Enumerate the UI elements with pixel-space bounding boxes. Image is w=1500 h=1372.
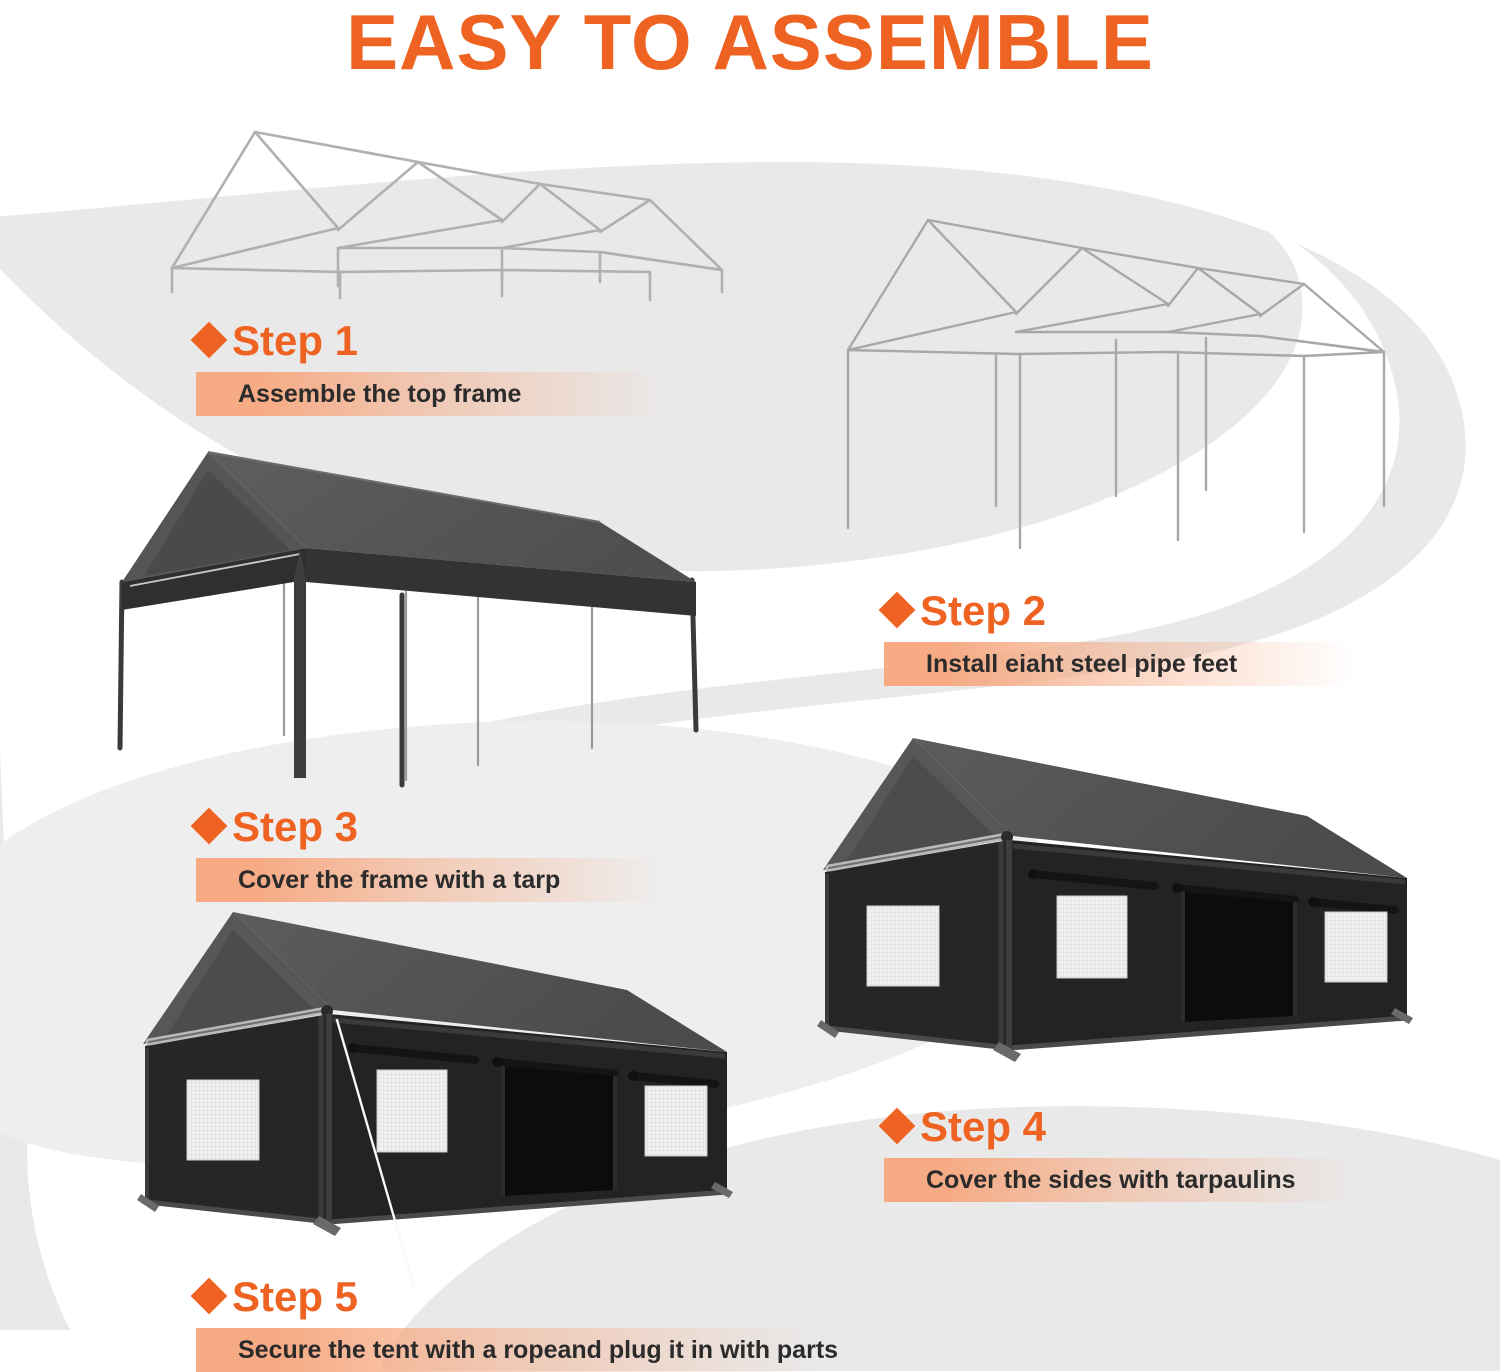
step-3-title: Step 3 bbox=[232, 806, 358, 848]
step-2-header: Step 2 bbox=[884, 586, 1237, 636]
step-3-description-wrap: Cover the frame with a tarp bbox=[196, 858, 560, 902]
illustration-frame-with-eight-legs bbox=[820, 210, 1450, 550]
step-5-header: Step 5 bbox=[196, 1272, 838, 1322]
illustration-tent-with-side-walls bbox=[795, 720, 1455, 1090]
step-block-1: Step 1 Assemble the top frame bbox=[196, 316, 521, 416]
step-3-description: Cover the frame with a tarp bbox=[196, 868, 560, 893]
step-block-2: Step 2 Install eiaht steel pipe feet bbox=[884, 586, 1237, 686]
step-5-description: Secure the tent with a ropeand plug it i… bbox=[196, 1338, 838, 1363]
step-block-4: Step 4 Cover the sides with tarpaulins bbox=[884, 1102, 1296, 1202]
step-4-header: Step 4 bbox=[884, 1102, 1296, 1152]
step-1-header: Step 1 bbox=[196, 316, 521, 366]
diamond-bullet-icon bbox=[191, 1278, 228, 1315]
step-1-description-wrap: Assemble the top frame bbox=[196, 372, 521, 416]
illustration-tent-with-guy-rope bbox=[115, 890, 775, 1290]
illustration-tent-with-roof-tarp bbox=[100, 430, 740, 800]
step-2-description-wrap: Install eiaht steel pipe feet bbox=[884, 642, 1237, 686]
diamond-bullet-icon bbox=[191, 322, 228, 359]
diamond-bullet-icon bbox=[191, 808, 228, 845]
infographic-canvas: EASY TO ASSEMBLE bbox=[0, 0, 1500, 1371]
step-1-description: Assemble the top frame bbox=[196, 382, 521, 407]
step-1-title: Step 1 bbox=[232, 320, 358, 362]
diamond-bullet-icon bbox=[879, 592, 916, 629]
step-5-title: Step 5 bbox=[232, 1276, 358, 1318]
step-block-5: Step 5 Secure the tent with a ropeand pl… bbox=[196, 1272, 838, 1372]
page-title: EASY TO ASSEMBLE bbox=[0, 2, 1500, 84]
illustration-top-frame-skeleton bbox=[150, 120, 760, 320]
step-3-header: Step 3 bbox=[196, 802, 560, 852]
step-4-title: Step 4 bbox=[920, 1106, 1046, 1148]
step-4-description: Cover the sides with tarpaulins bbox=[884, 1168, 1296, 1193]
diamond-bullet-icon bbox=[879, 1108, 916, 1145]
step-5-description-wrap: Secure the tent with a ropeand plug it i… bbox=[196, 1328, 838, 1372]
step-4-description-wrap: Cover the sides with tarpaulins bbox=[884, 1158, 1296, 1202]
step-2-title: Step 2 bbox=[920, 590, 1046, 632]
step-block-3: Step 3 Cover the frame with a tarp bbox=[196, 802, 560, 902]
step-2-description: Install eiaht steel pipe feet bbox=[884, 652, 1237, 677]
